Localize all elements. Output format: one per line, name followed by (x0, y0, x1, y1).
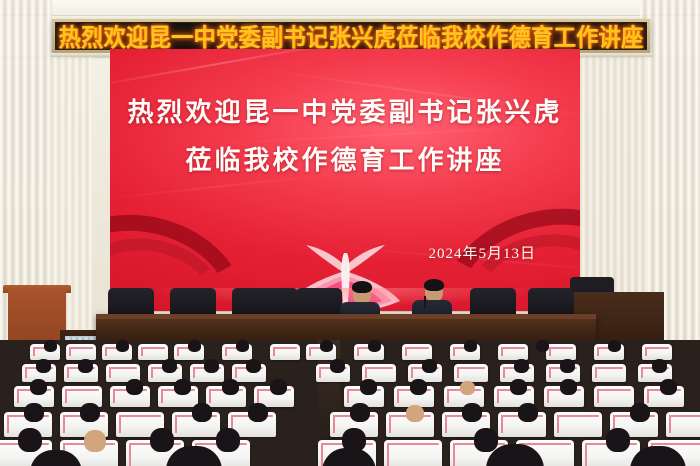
backdrop-date: 2024年5月13日 (428, 242, 536, 263)
attendee-head (406, 405, 424, 422)
ceiling-band (0, 0, 700, 16)
attendee-head (350, 403, 370, 422)
attendee-head (78, 359, 93, 373)
stage-chair (252, 288, 298, 316)
attendee-head (606, 428, 630, 452)
attendee-head (222, 379, 239, 395)
seat (66, 344, 96, 360)
stage-desk-edge (96, 314, 596, 319)
attendee-head (84, 430, 106, 452)
attendee-head (248, 403, 268, 422)
backdrop-title: 热烈欢迎昆一中党委副书记张兴虎 莅临我校作德育工作讲座 (110, 89, 580, 185)
auditorium-photo: 热烈欢迎昆一中党委副书记张兴虎莅临我校作德育工作讲座 热烈欢迎昆一中党委副书记张… (0, 0, 700, 466)
seat (454, 364, 488, 382)
attendee-head (652, 359, 667, 373)
attendee-head (560, 379, 577, 395)
seat (594, 386, 634, 407)
attendee-head (608, 340, 621, 352)
seat (642, 344, 672, 360)
attendee-head (30, 379, 47, 395)
attendee-head (368, 340, 381, 352)
seat (270, 344, 300, 360)
attendee-head (236, 340, 249, 352)
seat (402, 344, 432, 360)
seat (592, 364, 626, 382)
stage-chair (470, 288, 516, 316)
attendee-head (474, 428, 498, 452)
attendee-head (462, 403, 482, 422)
attendee-head (422, 359, 437, 373)
attendee-head (80, 403, 100, 422)
attendee-head (660, 379, 677, 395)
attendee-head (162, 359, 177, 373)
attendee-head (246, 359, 261, 373)
seat (138, 344, 168, 360)
hair (424, 279, 444, 291)
attendee-head (116, 340, 129, 352)
attendee-head (270, 379, 287, 395)
attendee-head (18, 428, 42, 452)
attendee-head (192, 403, 212, 422)
led-banner-text: 热烈欢迎昆一中党委副书记张兴虎莅临我校作德育工作讲座 (58, 22, 643, 50)
microphone (424, 296, 426, 308)
attendee-head (44, 340, 57, 352)
led-banner: 热烈欢迎昆一中党委副书记张兴虎莅临我校作德育工作讲座 (52, 19, 650, 53)
attendee-head (464, 340, 477, 352)
backdrop-title-line-2: 莅临我校作德育工作讲座 (110, 137, 580, 185)
wall-seam (0, 15, 700, 16)
stage-chair (170, 288, 216, 316)
seat (554, 412, 602, 437)
speaker-head (353, 284, 371, 304)
attendee-head (510, 379, 527, 395)
attendee-head (360, 379, 377, 395)
attendee-head (460, 381, 475, 395)
hair (352, 281, 372, 293)
attendee-head (518, 403, 538, 422)
attendee-head (204, 359, 219, 373)
stage-chair (296, 288, 342, 316)
seat (498, 344, 528, 360)
light-streak (110, 49, 366, 91)
attendee-head (560, 359, 575, 373)
attendee-head (174, 379, 191, 395)
attendee-head (536, 340, 549, 352)
attendee-head (24, 403, 44, 422)
speaker-head (425, 282, 443, 302)
attendee-head (36, 359, 51, 373)
seat (546, 344, 576, 360)
led-screen: 热烈欢迎昆一中党委副书记张兴虎莅临我校作德育工作讲座 (55, 22, 647, 50)
seat (384, 440, 442, 466)
attendee-head (330, 359, 345, 373)
backdrop-screen: 热烈欢迎昆一中党委副书记张兴虎 莅临我校作德育工作讲座 2024年5月13日 (110, 49, 580, 311)
attendee-head (320, 340, 333, 352)
attendee-head (126, 379, 143, 395)
seat (666, 412, 700, 437)
attendee-head (514, 359, 529, 373)
attendee-head (630, 403, 650, 422)
attendee-head (410, 379, 427, 395)
audience-area (0, 340, 700, 466)
attendee-head (188, 340, 201, 352)
stage-chair (528, 288, 574, 316)
stage-chair (108, 288, 154, 316)
attendee-head (150, 428, 174, 452)
backdrop-title-line-1: 热烈欢迎昆一中党委副书记张兴虎 (110, 89, 580, 137)
attendee-head (216, 428, 240, 452)
